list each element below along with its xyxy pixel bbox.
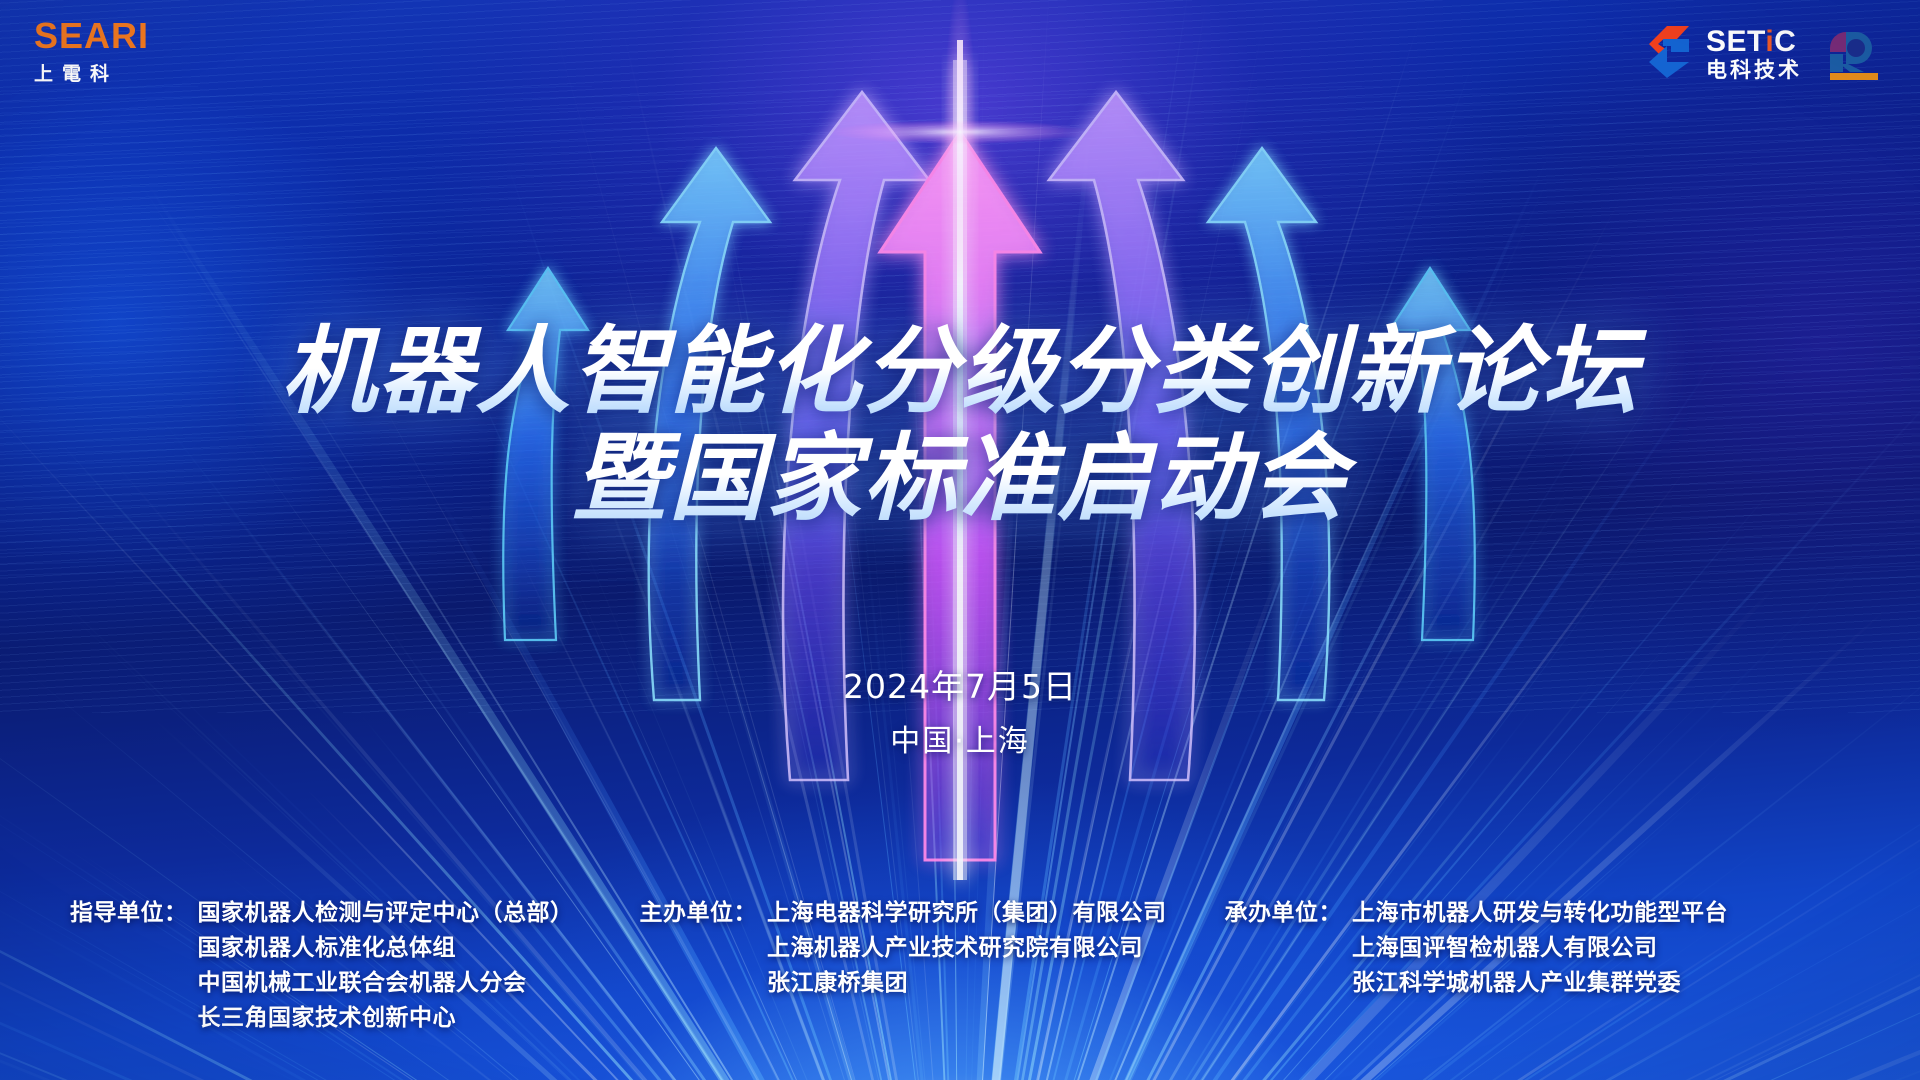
partner-logos: SETiC 电科技术 [1637,20,1886,87]
org-list-organizer: 上海市机器人研发与转化功能型平台 上海国评智检机器人有限公司 张江科学城机器人产… [1352,896,1728,1001]
org-label-host: 主办单位： [640,896,758,931]
setic-text-block: SETiC 电科技术 [1706,27,1802,81]
event-date: 2024年7月5日 [0,660,1920,708]
org-label-organizer: 承办单位： [1225,896,1343,931]
org-block-guidance: 指导单位： 国家机器人检测与评定中心（总部） 国家机器人标准化总体组 中国机械工… [70,896,574,1036]
event-location: 中国·上海 [0,716,1920,760]
setic-wordmark-i: i [1765,25,1774,58]
org-item: 中国机械工业联合会机器人分会 [198,966,574,1001]
org-item: 长三角国家技术创新中心 [198,1001,574,1036]
org-block-host: 主办单位： 上海电器科学研究所（集团）有限公司 上海机器人产业技术研究院有限公司… [640,896,1167,1001]
seari-wordmark: SEARI [34,18,149,54]
title-line-1: 机器人智能化分级分类创新论坛 [0,322,1920,423]
org-list-host: 上海电器科学研究所（集团）有限公司 上海机器人产业技术研究院有限公司 张江康桥集… [767,896,1167,1001]
org-item: 上海机器人产业技术研究院有限公司 [767,931,1167,966]
org-item: 上海国评智检机器人有限公司 [1352,931,1728,966]
setic-chinese-name: 电科技术 [1706,60,1802,81]
setic-mark-icon [1637,22,1695,85]
banner-stage: SEARI 上電科 SETiC 电科技术 [0,0,1920,1080]
title-line-2: 暨国家标准启动会 [0,429,1920,530]
org-item: 国家机器人检测与评定中心（总部） [198,896,574,931]
org-item: 上海电器科学研究所（集团）有限公司 [767,896,1167,931]
organizations: 指导单位： 国家机器人检测与评定中心（总部） 国家机器人标准化总体组 中国机械工… [0,896,1920,1036]
org-label-guidance: 指导单位： [70,896,188,931]
setic-wordmark-b: C [1774,25,1796,58]
seari-wordmark-text: SEARI [34,15,149,56]
seari-chinese-name: 上電科 [34,59,149,86]
setic-wordmark: SETiC [1706,27,1802,57]
seari-logo: SEARI 上電科 [34,18,149,86]
setic-wordmark-a: SET [1706,25,1765,58]
org-item: 国家机器人标准化总体组 [198,931,574,966]
setic-logo: SETiC 电科技术 [1637,22,1802,85]
banner-title: 机器人智能化分级分类创新论坛 暨国家标准启动会 [0,322,1920,529]
org-item: 上海市机器人研发与转化功能型平台 [1352,896,1728,931]
ir-logo [1824,20,1886,87]
org-item: 张江康桥集团 [767,966,1167,1001]
org-list-guidance: 国家机器人检测与评定中心（总部） 国家机器人标准化总体组 中国机械工业联合会机器… [198,896,574,1036]
org-item: 张江科学城机器人产业集群党委 [1352,966,1728,1001]
org-block-organizer: 承办单位： 上海市机器人研发与转化功能型平台 上海国评智检机器人有限公司 张江科… [1225,896,1729,1001]
event-meta: 2024年7月5日 中国·上海 [0,660,1920,760]
